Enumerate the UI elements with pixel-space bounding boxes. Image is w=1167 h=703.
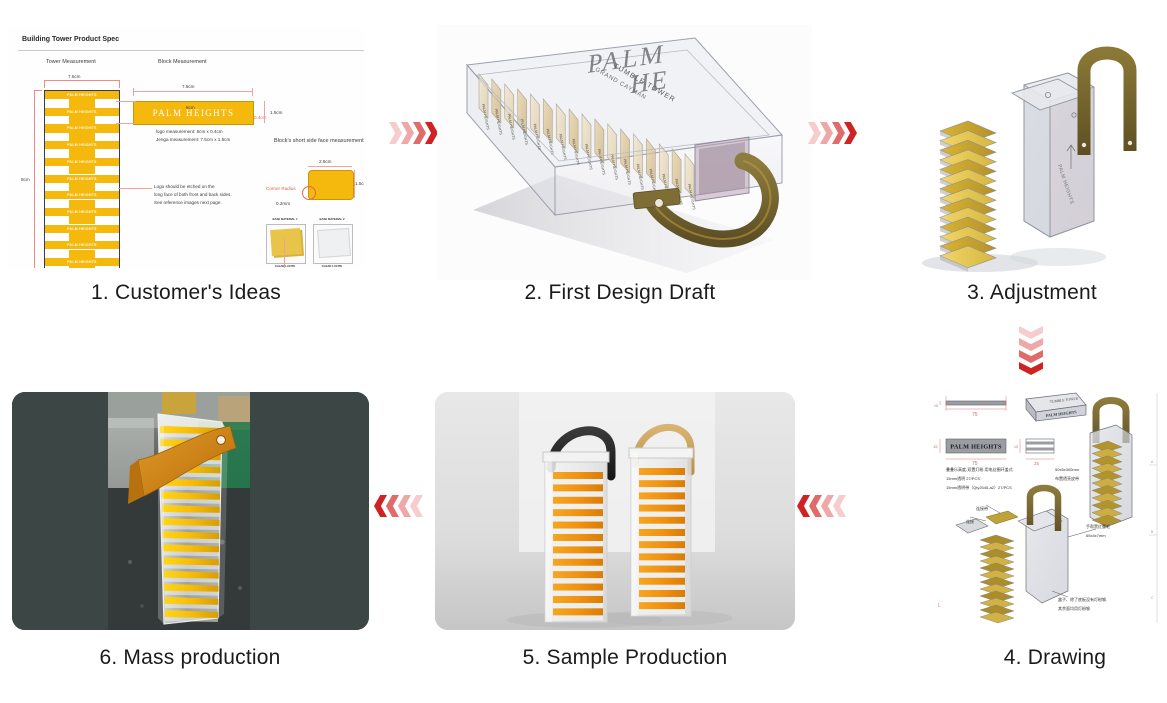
cad-case-render: PALM HEIGHTSPALM HEIGHTSPALM HEIGHTSPALM… xyxy=(437,25,812,280)
sample-block-row xyxy=(639,468,685,475)
sample-block-spacer xyxy=(553,591,603,596)
tower-width-dimension-line xyxy=(44,80,120,88)
short-side-heading: Block's short side face measurement xyxy=(274,138,364,144)
sample-block-spacer xyxy=(639,585,685,590)
drawing-connector-part xyxy=(986,511,1018,524)
sample-block-spacer xyxy=(553,541,603,546)
sample-block-row xyxy=(639,602,685,609)
chevron-left xyxy=(821,495,834,517)
chevron-left xyxy=(833,495,846,517)
sample-block-spacer xyxy=(553,504,603,509)
step-5-caption: 5. Sample Production xyxy=(495,646,755,670)
step-3-caption: 3. Adjustment xyxy=(912,281,1152,305)
short-side-width-dim: 2.5cm xyxy=(319,158,332,165)
chevron-right xyxy=(808,122,821,144)
sample-block-row xyxy=(639,517,685,524)
sample-block-spacer xyxy=(639,487,685,492)
chevron-down xyxy=(1019,338,1043,351)
sample-block-spacer xyxy=(553,578,603,583)
tower-block-stack: PALM HEIGHTSPALM HEIGHTSPALM HEIGHTSPALM… xyxy=(44,90,120,268)
chevron-down xyxy=(1019,350,1043,363)
step-6-image-mass-production xyxy=(12,392,369,630)
chevron-right xyxy=(832,122,845,144)
sample-block-row xyxy=(553,484,603,491)
svg-text:C: C xyxy=(1151,596,1154,600)
arrow-step1-to-step2 xyxy=(389,122,437,144)
sample-block-spacer xyxy=(639,524,685,529)
step-3-image-cad-exploded: PALM HEIGHTS xyxy=(862,25,1162,280)
short-side-height-dim: 1.5cm xyxy=(355,180,364,187)
tower-row-plain xyxy=(45,266,119,268)
step-5-image-sample-production xyxy=(435,392,795,630)
arrow-step5-to-step6 xyxy=(374,495,422,517)
chevron-left xyxy=(398,495,411,517)
chevron-right xyxy=(389,122,402,144)
tower-row-label: PALM HEIGHTS xyxy=(45,124,119,132)
tower-row-plain xyxy=(45,166,119,174)
chevron-right xyxy=(844,122,857,144)
arrow-step3-to-step4 xyxy=(1019,326,1043,374)
drawing-leader-line xyxy=(986,505,1000,513)
block-note-line-2: Jenga measurement: 7.5cm x 1.5cm xyxy=(156,136,230,143)
tower-row-label: PALM HEIGHTS xyxy=(45,175,119,183)
block-height-dim-line xyxy=(264,101,265,123)
step-1-image-spec-sheet: Building Tower Product Spec Tower Measur… xyxy=(8,28,364,268)
drawing-note-cn-8: 盒子、除了底板没有灯粉够, xyxy=(1058,597,1107,603)
sample-block-row xyxy=(553,472,603,479)
sample-block-spacer xyxy=(639,512,685,517)
chevron-left xyxy=(374,495,387,517)
material-1-sample xyxy=(270,228,302,256)
drawing-note-cn-10: 连接带 xyxy=(976,506,988,512)
step-4-caption: 4. Drawing xyxy=(950,646,1160,670)
svg-text:A: A xyxy=(1151,460,1154,464)
drawing-note-cn-6: 手帮黑红腰毛 xyxy=(1086,524,1110,530)
sample-block-spacer xyxy=(553,479,603,484)
svg-text:25: 25 xyxy=(1034,461,1039,466)
spec-sheet-divider xyxy=(18,50,364,51)
etch-note-line-3: See reference images next page. xyxy=(154,199,222,206)
step-4-image-technical-drawing: A B C L 75 15 PALM HEIGHTS 75 15 25 xyxy=(900,385,1165,630)
sample-block-row xyxy=(553,534,603,541)
sample-block-spacer xyxy=(553,529,603,534)
tower-row-plain xyxy=(45,216,119,224)
sample-block-row xyxy=(639,505,685,512)
tower-row-logo: PALM HEIGHTS xyxy=(45,175,119,183)
block-bottom-ext-line xyxy=(116,123,136,124)
block-length-dim: 7.5cm xyxy=(182,83,195,90)
tower-row-logo: PALM HEIGHTS xyxy=(45,124,119,132)
short-side-height-dim-line xyxy=(354,170,355,198)
drawing-note-cn-5: 布置透亮皮带 xyxy=(1055,476,1079,482)
drawing-note-cn-1: 叠叠乐高度-双置灯粉-用电丝圈环盖式 xyxy=(946,467,1013,473)
tower-row-logo: PALM HEIGHTS xyxy=(45,225,119,233)
corner-radius-dim: 0.2mm xyxy=(276,200,290,207)
block-height-dim: 1.5cm xyxy=(270,109,283,116)
sample-block-spacer xyxy=(553,553,603,558)
sample-block-spacer xyxy=(639,499,685,504)
tower-row-plain xyxy=(45,149,119,157)
chevron-left xyxy=(809,495,822,517)
chevron-right xyxy=(401,122,414,144)
sample-block-spacer xyxy=(553,491,603,496)
material-callout-line xyxy=(284,238,285,268)
sample-block-row xyxy=(553,497,603,504)
tower-row-label: PALM HEIGHTS xyxy=(45,91,119,99)
tower-row-plain xyxy=(45,233,119,241)
svg-text:15: 15 xyxy=(1014,445,1018,449)
sample-block-row xyxy=(553,522,603,529)
sample-block-row xyxy=(553,596,603,603)
chevron-down xyxy=(1019,326,1043,339)
block-length-dim-line xyxy=(133,91,252,92)
etch-note-leader xyxy=(118,188,152,189)
tower-row-plain xyxy=(45,116,119,124)
tower-row-logo: PALM HEIGHTS xyxy=(45,208,119,216)
base-material-2-title: BASE MATERIAL 2 xyxy=(313,217,351,221)
tower-row-plain xyxy=(45,183,119,191)
sample-production-photo xyxy=(435,392,795,630)
drawing-block-bottom xyxy=(980,612,1014,623)
block-length-tick-left xyxy=(133,88,134,96)
base-material-1-caption: CLEAR LUCITE xyxy=(266,264,304,268)
drawing-note-cn-11: 连接 xyxy=(966,519,974,525)
step-6-caption: 6. Mass production xyxy=(40,646,340,670)
block-note-line-1: logo measurement: 5cm x 0.4cm xyxy=(156,128,223,135)
sample-block-spacer xyxy=(553,566,603,571)
svg-text:B: B xyxy=(1151,530,1154,534)
sample-block-spacer xyxy=(553,603,603,608)
base-material-1-title: BASE MATERIAL 1 xyxy=(266,217,304,221)
tower-row-plain xyxy=(45,250,119,258)
tower-row-label: PALM HEIGHTS xyxy=(45,108,119,116)
logo-width-dim: 5cm xyxy=(186,104,195,111)
drawing-vectors: A B C L 75 15 PALM HEIGHTS 75 15 25 xyxy=(900,385,1165,630)
block-length-tick-right xyxy=(252,88,253,96)
sample-block-spacer xyxy=(639,573,685,578)
cad-exploded-render: PALM HEIGHTS xyxy=(862,25,1162,280)
mass-production-photo xyxy=(12,392,369,630)
process-flow-diagram: Building Tower Product Spec Tower Measur… xyxy=(0,0,1167,703)
drawing-note-cn-3: 15mm透明带（Qty2545-a2）27/PCS xyxy=(946,485,1012,491)
sample-block-row xyxy=(639,541,685,548)
corner-radius-label: Corner Radius xyxy=(266,185,296,192)
chevron-right xyxy=(820,122,833,144)
tower-row-plain xyxy=(45,200,119,208)
tower-row-logo: PALM HEIGHTS xyxy=(45,158,119,166)
sample-block-row xyxy=(639,480,685,487)
tower-row-plain xyxy=(45,133,119,141)
sample-block-spacer xyxy=(639,597,685,602)
tower-row-label: PALM HEIGHTS xyxy=(45,191,119,199)
sample-block-row xyxy=(639,492,685,499)
chevron-right xyxy=(413,122,426,144)
tower-row-label: PALM HEIGHTS xyxy=(45,141,119,149)
step-2-image-cad-render: PALM HEIGHTSPALM HEIGHTSPALM HEIGHTSPALM… xyxy=(437,25,812,280)
tower-row-logo: PALM HEIGHTS xyxy=(45,241,119,249)
chevron-left xyxy=(797,495,810,517)
tower-height-dim: 8cm xyxy=(21,176,30,183)
arrow-step2-to-step3 xyxy=(808,122,856,144)
tower-row-logo: PALM HEIGHTS xyxy=(45,258,119,266)
sample-block-spacer xyxy=(639,475,685,480)
step-1-caption: 1. Customer's Ideas xyxy=(36,281,336,305)
drawing-note-cn-4: 50x5x300mm xyxy=(1055,467,1079,473)
sample-block-spacer xyxy=(639,609,685,614)
block-measurement-heading: Block Measurement xyxy=(158,59,207,65)
tower-row-label: PALM HEIGHTS xyxy=(45,158,119,166)
sample-block-spacer xyxy=(553,615,603,620)
material-2-sample xyxy=(317,228,351,258)
sample-block-row xyxy=(639,553,685,560)
spec-sheet-title: Building Tower Product Spec xyxy=(22,36,119,43)
drawing-note-cn-9: 其余面均用灯粉够 xyxy=(1058,606,1090,612)
svg-text:75: 75 xyxy=(972,412,978,418)
chevron-down xyxy=(1019,362,1043,375)
chevron-left xyxy=(386,495,399,517)
chevron-left xyxy=(410,495,423,517)
sample-block-spacer xyxy=(639,548,685,553)
tower-row-plain xyxy=(45,99,119,107)
base-material-2-caption: CLEAR LUCITE xyxy=(313,264,351,268)
tower-row-logo: PALM HEIGHTS xyxy=(45,108,119,116)
sample-block-spacer xyxy=(639,560,685,565)
tower-row-logo: PALM HEIGHTS xyxy=(45,91,119,99)
sample-block-row xyxy=(639,566,685,573)
sample-block-row xyxy=(553,584,603,591)
svg-text:15: 15 xyxy=(933,444,938,449)
sample-block-row xyxy=(639,578,685,585)
tower-height-dimension-line xyxy=(34,90,42,268)
etch-note-line-1: Logo should be etched on the xyxy=(154,183,215,190)
tower-row-logo: PALM HEIGHTS xyxy=(45,141,119,149)
corner-radius-indicator xyxy=(302,186,316,200)
block-top-ext-line xyxy=(116,101,136,102)
svg-text:15: 15 xyxy=(934,404,938,408)
svg-text:PALM HEIGHTS: PALM HEIGHTS xyxy=(950,444,1002,451)
drawing-note-cn-7: 65x4x7mm xyxy=(1086,533,1106,539)
sample-block-row xyxy=(553,608,603,615)
svg-text:L: L xyxy=(938,603,941,609)
sample-block-row xyxy=(553,571,603,578)
sample-block-row xyxy=(553,546,603,553)
tower-row-label: PALM HEIGHTS xyxy=(45,208,119,216)
short-side-width-dim-line xyxy=(308,166,352,167)
arrow-step4-to-step5 xyxy=(797,495,845,517)
base-material-2-swatch xyxy=(313,224,353,264)
tower-row-label: PALM HEIGHTS xyxy=(45,258,119,266)
tower-row-label: PALM HEIGHTS xyxy=(45,241,119,249)
tower-row-label: PALM HEIGHTS xyxy=(45,225,119,233)
tower-row-logo: PALM HEIGHTS xyxy=(45,191,119,199)
drawing-note-cn-2: 15mm透明 27/PCS xyxy=(946,476,980,482)
sample-block-row xyxy=(639,590,685,597)
step-2-caption: 2. First Design Draft xyxy=(490,281,750,305)
sample-block-spacer xyxy=(553,516,603,521)
sample-block-row xyxy=(553,509,603,516)
base-material-1-swatch xyxy=(266,224,306,264)
sample-block-row xyxy=(639,529,685,536)
sample-block-row xyxy=(553,559,603,566)
etch-note-line-2: long face of both front and back sides. xyxy=(154,191,232,198)
tower-measurement-heading: Tower Measurement xyxy=(46,59,96,65)
sample-block-spacer xyxy=(639,536,685,541)
